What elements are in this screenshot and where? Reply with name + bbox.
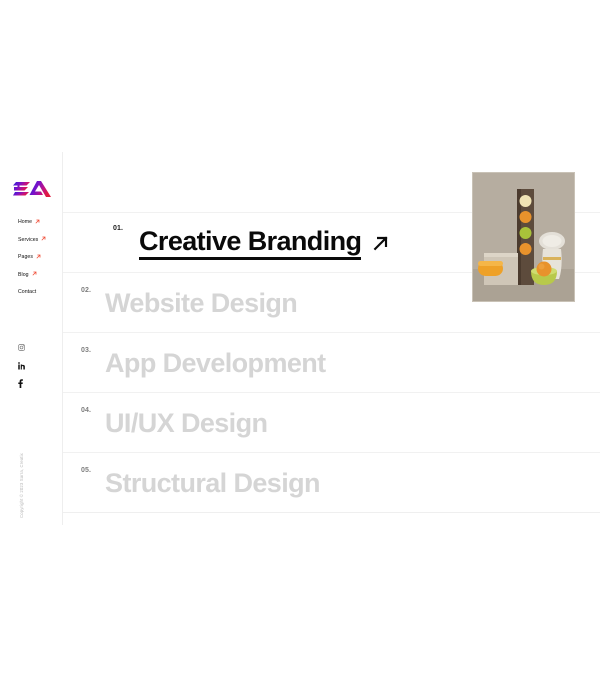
page-root: Home Services Pages Blog [0,0,600,680]
service-number: 05. [81,467,91,474]
copyright-label: Copyright © 2023 Sarra, Creatix [19,453,24,518]
service-row-3[interactable]: 03. App Development [63,333,600,393]
service-row-5[interactable]: 05. Structural Design [63,453,600,513]
service-title: UI/UX Design [105,408,267,438]
nav-label: Pages [18,254,33,260]
service-number: 02. [81,287,91,294]
nav-label: Contact [18,289,36,295]
nav-item-blog[interactable]: Blog [18,271,64,279]
arrow-up-right-icon [36,254,41,259]
service-title: Creative Branding [139,226,361,260]
facebook-icon[interactable] [18,378,27,389]
linkedin-icon[interactable] [18,360,27,371]
service-preview-image [472,172,575,302]
nav-label: Home [18,219,32,225]
service-title: Structural Design [105,468,320,498]
nav-item-contact[interactable]: Contact [18,288,64,296]
copyright-text: Copyright © 2023 Sarra, Creatix [11,422,23,518]
instagram-icon[interactable] [18,342,27,353]
sidebar: Home Services Pages Blog [0,150,62,526]
logo-sa[interactable] [13,177,51,201]
service-number: 04. [81,407,91,414]
nav-item-services[interactable]: Services [18,236,64,244]
nav-item-home[interactable]: Home [18,218,64,226]
sidebar-nav: Home Services Pages Blog [18,218,64,306]
social-links [18,342,27,396]
arrow-up-right-icon[interactable] [371,233,391,253]
service-title: Website Design [105,288,297,318]
service-number: 03. [81,347,91,354]
nav-label: Services [18,237,38,243]
service-number: 01. [113,225,123,232]
arrow-up-right-icon [32,271,37,276]
nav-item-pages[interactable]: Pages [18,253,64,261]
arrow-up-right-icon [35,219,40,224]
service-title: App Development [105,348,326,378]
service-row-4[interactable]: 04. UI/UX Design [63,393,600,453]
nav-label: Blog [18,272,29,278]
arrow-up-right-icon [41,236,46,241]
